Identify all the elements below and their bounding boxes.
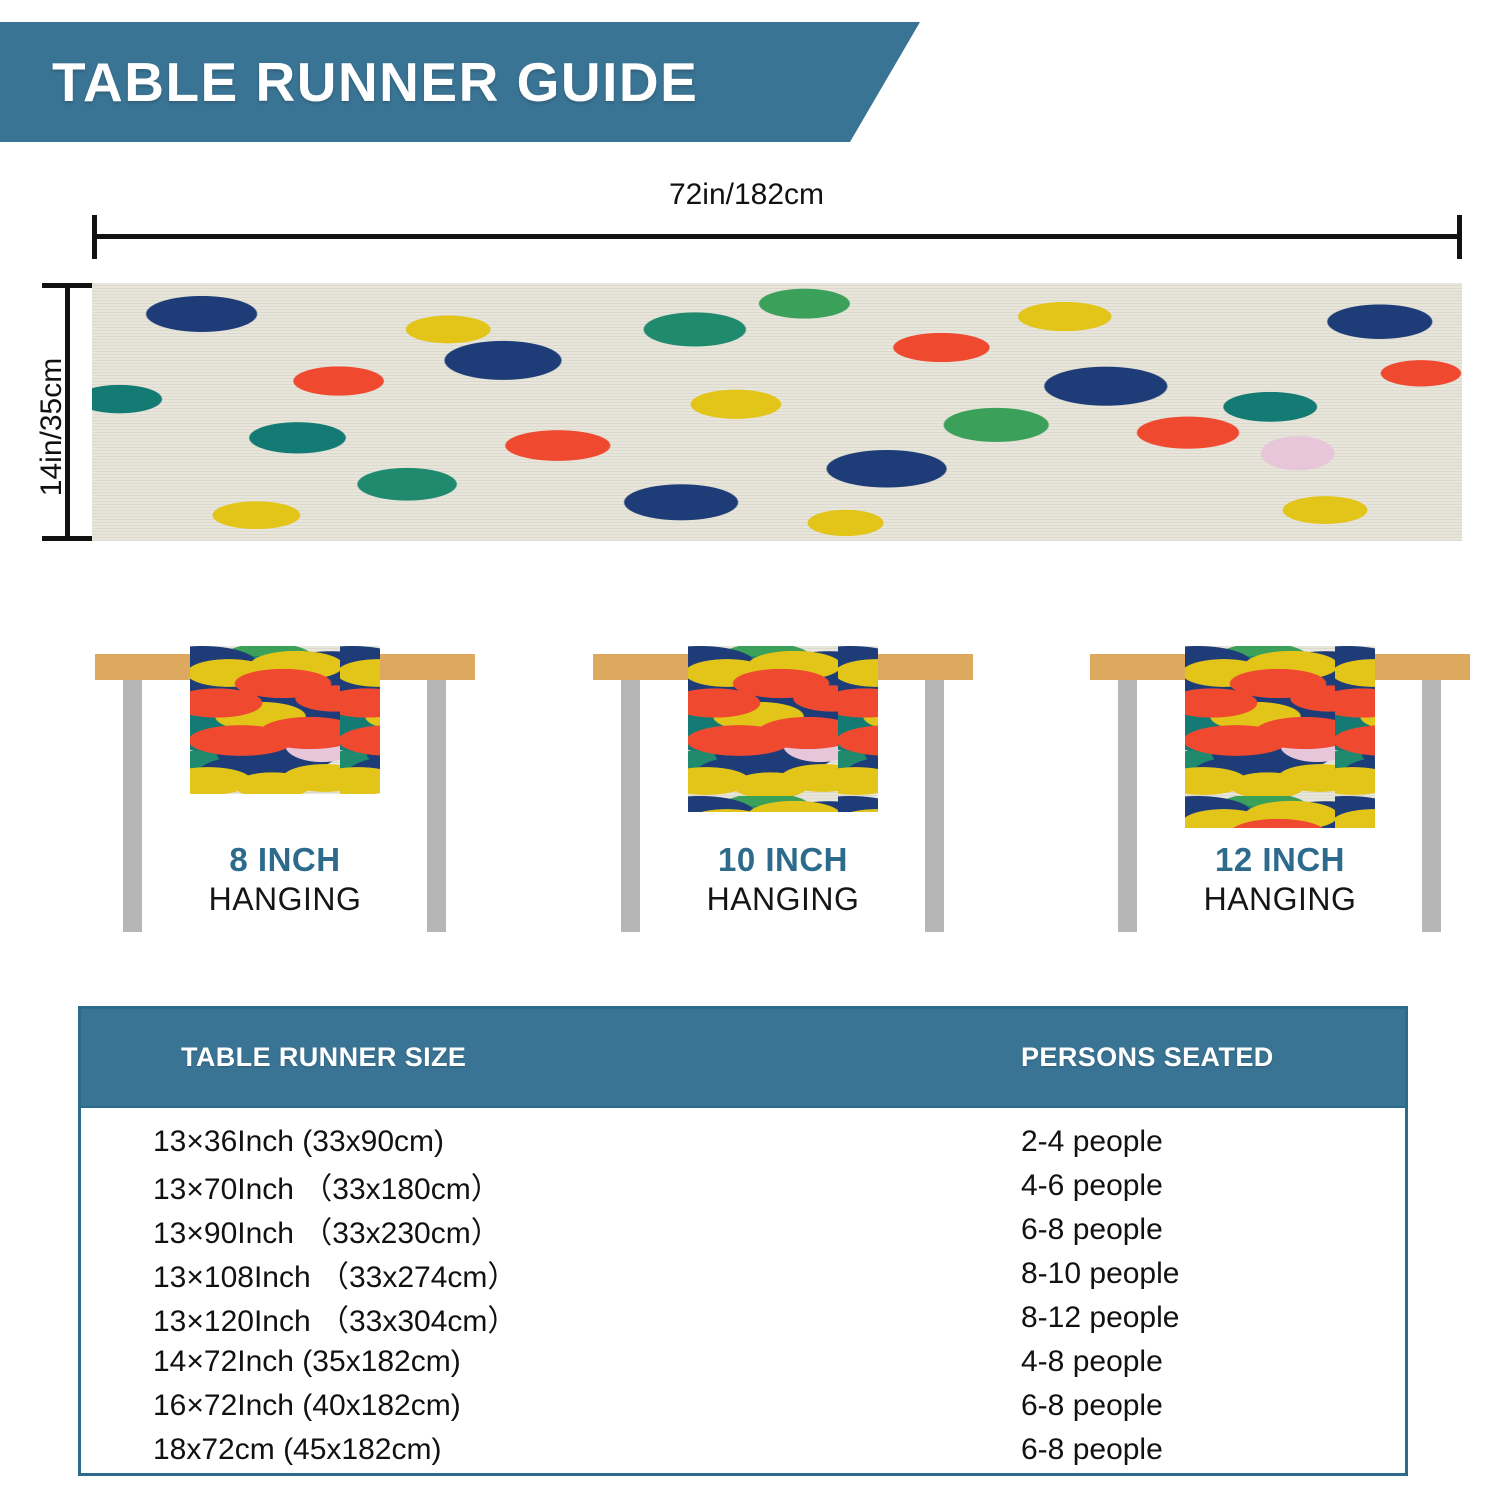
hanging-label-8-inch: 8 INCH HANGING — [95, 841, 475, 918]
table-row: 13×108Inch （33x274cm）8-10 people — [81, 1252, 1405, 1296]
hanging-label-10-inch: 10 INCH HANGING — [593, 841, 973, 918]
width-dimension-cap-right — [1457, 215, 1462, 259]
table-row: 13×36Inch (33x90cm)2-4 people — [81, 1120, 1405, 1164]
hanging-runner-swatch — [1185, 646, 1375, 828]
header-banner: TABLE RUNNER GUIDE — [0, 22, 920, 142]
column-header-persons-seated: PERSONS SEATED — [1021, 1042, 1405, 1073]
width-dimension-label: 72in/182cm — [0, 178, 1493, 212]
fabric-swatch — [688, 646, 878, 812]
hanging-caption-label: HANGING — [95, 881, 475, 918]
hanging-size-label: 8 INCH — [95, 841, 475, 879]
width-dimension-cap-left — [92, 215, 97, 259]
hanging-illustration-12-inch: 12 INCH HANGING — [1090, 636, 1493, 936]
hanging-size-label: 10 INCH — [593, 841, 973, 879]
cell-table-runner-size: 13×36Inch (33x90cm) — [81, 1125, 1021, 1159]
cell-table-runner-size: 13×120Inch （33x304cm） — [81, 1296, 1021, 1340]
table-row: 13×120Inch （33x304cm）8-12 people — [81, 1296, 1405, 1340]
hanging-illustration-10-inch: 10 INCH HANGING — [593, 636, 1013, 936]
cell-persons-seated: 4-8 people — [1021, 1345, 1405, 1379]
table-row: 16×72Inch (40x182cm)6-8 people — [81, 1384, 1405, 1428]
table-runner-product-image — [92, 283, 1462, 541]
table-row: 14×72Inch (35x182cm)4-8 people — [81, 1340, 1405, 1384]
cell-persons-seated: 6-8 people — [1021, 1213, 1405, 1247]
height-dimension-cap-top — [42, 283, 92, 288]
table-row: 13×70Inch （33x180cm）4-6 people — [81, 1164, 1405, 1208]
hanging-caption-label: HANGING — [593, 881, 973, 918]
height-dimension-label: 14in/35cm — [35, 307, 69, 547]
size-chart-header-row: TABLE RUNNER SIZE PERSONS SEATED — [81, 1009, 1405, 1108]
table-row: 18x72cm (45x182cm)6-8 people — [81, 1428, 1405, 1472]
cell-table-runner-size: 13×90Inch （33x230cm） — [81, 1208, 1021, 1252]
hanging-label-12-inch: 12 INCH HANGING — [1090, 841, 1470, 918]
hanging-runner-swatch — [688, 646, 878, 812]
cell-persons-seated: 6-8 people — [1021, 1433, 1405, 1467]
table-row: 13×90Inch （33x230cm）6-8 people — [81, 1208, 1405, 1252]
cell-persons-seated: 8-10 people — [1021, 1257, 1405, 1291]
size-chart-table: TABLE RUNNER SIZE PERSONS SEATED 13×36In… — [78, 1006, 1408, 1476]
cell-table-runner-size: 13×70Inch （33x180cm） — [81, 1164, 1021, 1208]
hanging-runner-swatch — [190, 646, 380, 794]
hanging-illustration-8-inch: 8 INCH HANGING — [95, 636, 515, 936]
cell-persons-seated: 8-12 people — [1021, 1301, 1405, 1335]
fabric-swatch — [190, 646, 380, 794]
fabric-swatch — [1185, 646, 1375, 828]
width-dimension-line — [92, 234, 1462, 239]
cell-persons-seated: 6-8 people — [1021, 1389, 1405, 1423]
page-title: TABLE RUNNER GUIDE — [52, 50, 698, 114]
cell-table-runner-size: 13×108Inch （33x274cm） — [81, 1252, 1021, 1296]
hanging-size-label: 12 INCH — [1090, 841, 1470, 879]
column-header-table-runner-size: TABLE RUNNER SIZE — [81, 1042, 1021, 1073]
cell-table-runner-size: 18x72cm (45x182cm) — [81, 1433, 1021, 1467]
hanging-caption-label: HANGING — [1090, 881, 1470, 918]
size-chart-body: 13×36Inch (33x90cm)2-4 people13×70Inch （… — [81, 1108, 1405, 1472]
cell-table-runner-size: 14×72Inch (35x182cm) — [81, 1345, 1021, 1379]
cell-table-runner-size: 16×72Inch (40x182cm) — [81, 1389, 1021, 1423]
cell-persons-seated: 2-4 people — [1021, 1125, 1405, 1159]
cell-persons-seated: 4-6 people — [1021, 1169, 1405, 1203]
